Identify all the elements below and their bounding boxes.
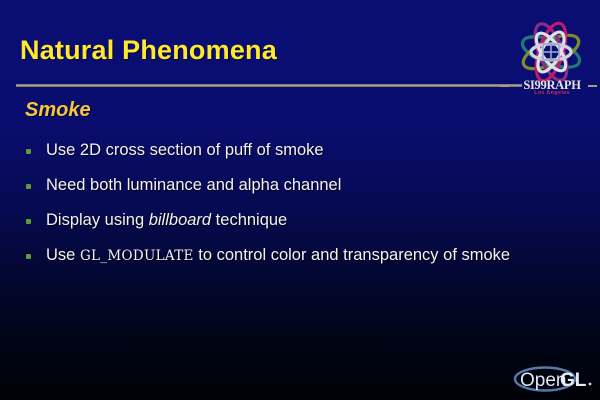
title-divider [16,84,522,87]
svg-text:GL: GL [560,370,587,391]
list-item-text-suffix: to control color and transparency of smo… [194,246,510,264]
code-token: GL_MODULATE [80,248,194,264]
list-item: Use 2D cross section of puff of smoke [26,140,586,175]
list-item-text-suffix: technique [211,211,287,229]
page-title: Natural Phenomena [20,35,277,66]
list-item-text-prefix: Use [46,246,80,264]
list-item: Need both luminance and alpha channel [26,175,586,210]
bullet-dot-icon [26,149,31,154]
list-item-text-prefix: Display using [46,211,149,229]
list-item-emphasis: billboard [149,211,211,229]
list-item-label: Use 2D cross section of puff of smoke [46,140,324,160]
list-item: Display using billboard technique [26,210,586,245]
bullet-list: Use 2D cross section of puff of smoke Ne… [26,140,586,280]
list-item-label: Need both luminance and alpha channel [46,175,341,195]
list-item-label: Display using billboard technique [46,210,287,230]
list-item: Use GL_MODULATE to control color and tra… [26,245,586,280]
slide-subtitle: Smoke [25,99,91,122]
bullet-dot-icon [26,184,31,189]
presentation-slide: Natural Phenomena Smoke Use 2D cross sec… [0,0,600,400]
bullet-dot-icon [26,254,31,259]
bullet-dot-icon [26,219,31,224]
siggraph-city-label: Los Angeles [505,90,599,96]
list-item-label: Use GL_MODULATE to control color and tra… [46,245,510,266]
opengl-logo-icon: Open GL [512,362,596,394]
